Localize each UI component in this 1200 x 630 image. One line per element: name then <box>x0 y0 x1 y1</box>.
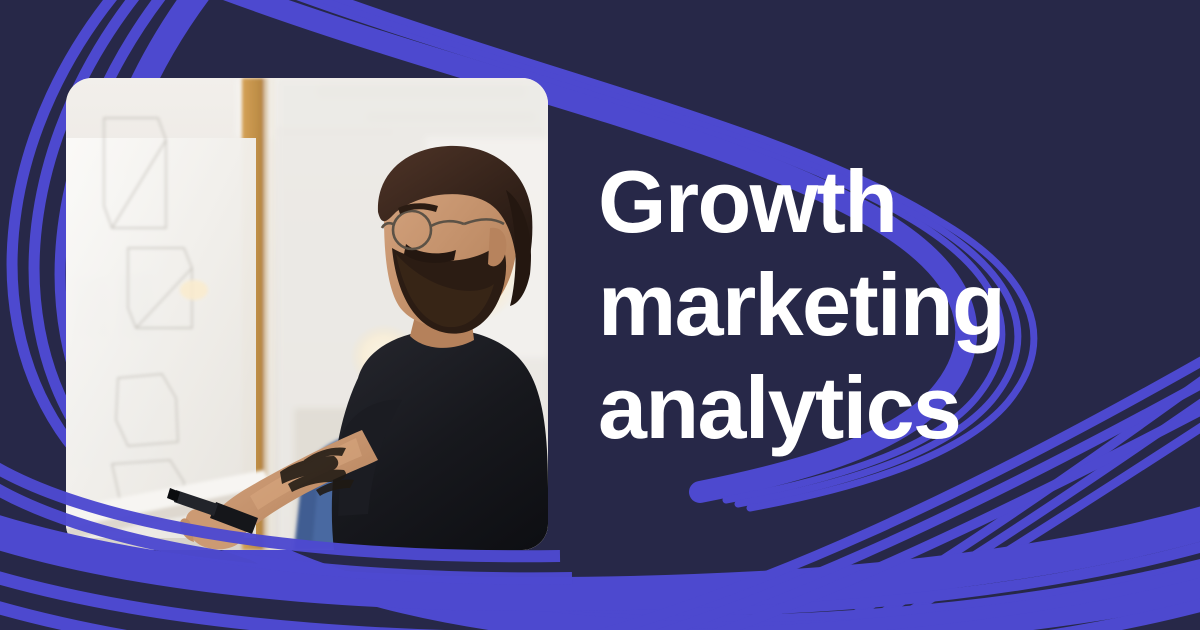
whiteboard <box>66 118 256 538</box>
headline-line-1: Growth <box>598 150 1158 253</box>
social-card-canvas: Growth marketing analytics <box>0 0 1200 630</box>
hero-photo-card <box>66 78 548 550</box>
hero-photo <box>66 78 548 550</box>
headline-line-3: analytics <box>598 356 1158 459</box>
headline-block: Growth marketing analytics <box>598 150 1158 459</box>
headline-line-2: marketing <box>598 253 1158 356</box>
